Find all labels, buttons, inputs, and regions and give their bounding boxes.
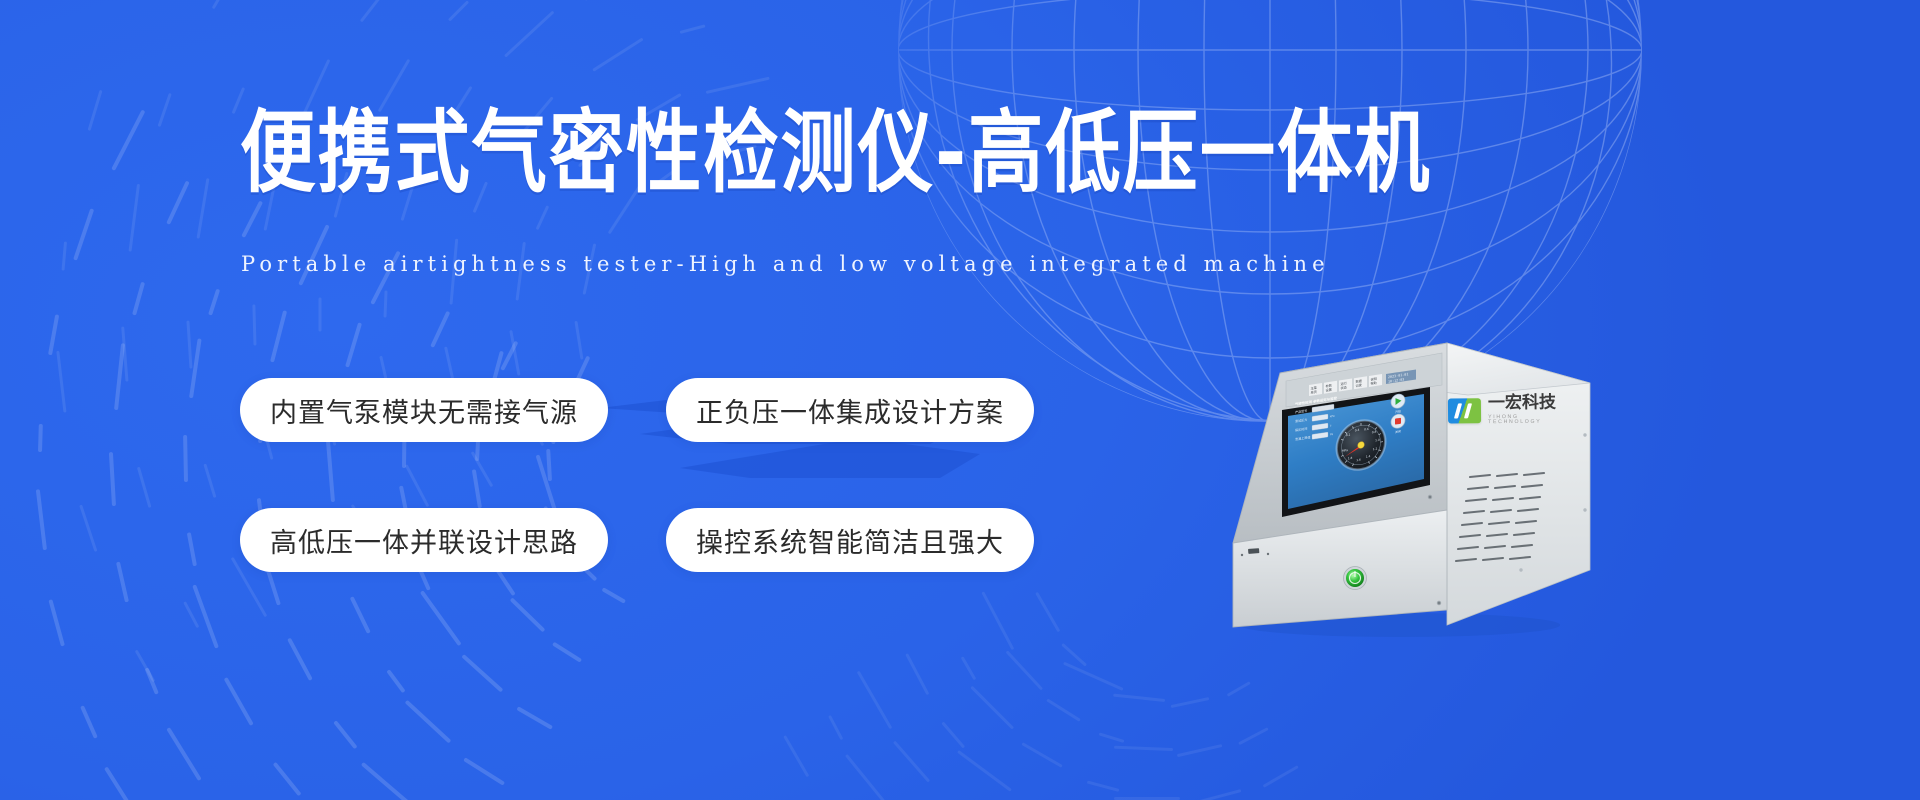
brand-logo-text: 一宏科技 YIHONG TECHNOLOGY [1488, 394, 1570, 425]
svg-text:1.6: 1.6 [1356, 458, 1361, 463]
svg-text:Pa: Pa [1330, 432, 1333, 436]
feature-pill-row-1: 内置气泵模块无需接气源 正负压一体集成设计方案 [240, 378, 1034, 442]
feature-pill-air-pump[interactable]: 内置气泵模块无需接气源 [240, 378, 608, 442]
feature-pill-control[interactable]: 操控系统智能简洁且强大 [666, 508, 1034, 572]
svg-text:0.6: 0.6 [1364, 427, 1369, 432]
svg-text:关闭: 关闭 [1395, 428, 1401, 434]
svg-text:kPa: kPa [1330, 414, 1335, 419]
product-banner: 便携式气密性检测仪-高低压一体机 Portable airtightness t… [0, 0, 1920, 800]
feature-pill-parallel[interactable]: 高低压一体并联设计思路 [240, 508, 608, 572]
svg-text:0.8: 0.8 [1372, 430, 1377, 435]
svg-text:1.8: 1.8 [1348, 456, 1353, 461]
svg-text:0.2: 0.2 [1346, 433, 1351, 438]
svg-text:开始: 开始 [1395, 408, 1401, 414]
svg-text:帮助: 帮助 [1371, 380, 1377, 386]
feature-pill-row-2: 高低压一体并联设计思路 操控系统智能简洁且强大 [240, 508, 1034, 572]
svg-text:1.0: 1.0 [1375, 438, 1380, 443]
svg-text:0.4: 0.4 [1355, 428, 1360, 433]
brand-name-cn: 一宏科技 [1488, 394, 1570, 412]
banner-content: 便携式气密性检测仪-高低压一体机 Portable airtightness t… [0, 0, 1920, 800]
svg-text:1.4: 1.4 [1366, 454, 1371, 459]
yihong-logo-icon [1448, 398, 1481, 423]
brand-logo: 一宏科技 YIHONG TECHNOLOGY [1448, 387, 1570, 432]
brand-name-en: YIHONG TECHNOLOGY [1488, 414, 1570, 425]
svg-text:1.2: 1.2 [1373, 447, 1378, 452]
feature-pill-integrated[interactable]: 正负压一体集成设计方案 [666, 378, 1034, 442]
page-title: 便携式气密性检测仪-高低压一体机 [240, 108, 1432, 198]
page-subtitle: Portable airtightness tester-High and lo… [241, 252, 1330, 276]
product-device-image: 主菜单页 参数设置 运行状态 数据记录 说明帮助 2023-01-01 10:1… [1185, 325, 1605, 645]
feature-pill-group: 内置气泵模块无需接气源 正负压一体集成设计方案 高低压一体并联设计思路 操控系统… [240, 378, 1034, 572]
svg-text:单页: 单页 [1311, 389, 1317, 395]
